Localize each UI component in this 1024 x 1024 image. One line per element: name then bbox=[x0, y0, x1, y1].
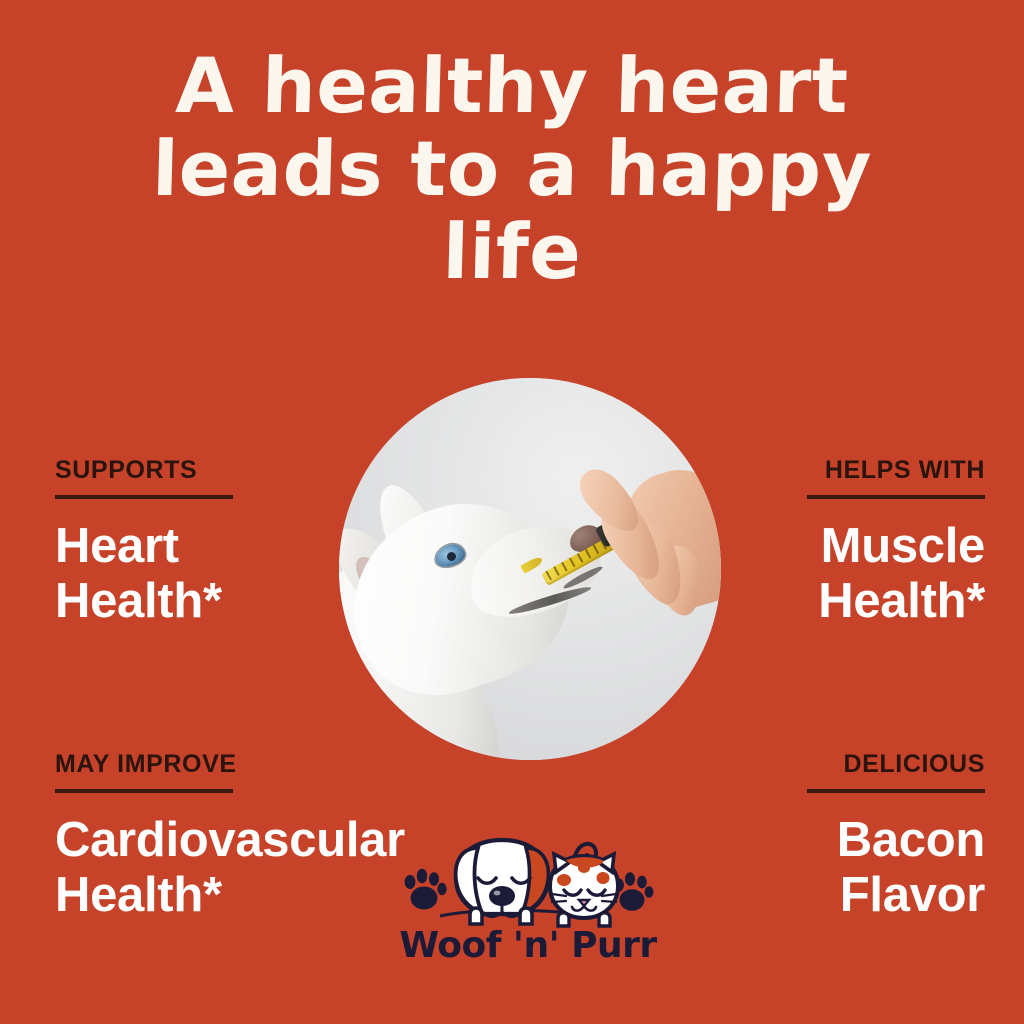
feature-delicious: DELICIOUS Bacon Flavor bbox=[807, 752, 985, 923]
feature-divider-may-improve bbox=[55, 789, 233, 793]
product-photo-circle bbox=[339, 378, 721, 760]
headline-line-1: A healthy heart bbox=[0, 44, 1024, 127]
paw-print-icon-left bbox=[405, 869, 447, 910]
feature-divider-helps-with bbox=[807, 495, 985, 499]
feature-may-improve: MAY IMPROVE Cardiovascular Health* bbox=[55, 752, 405, 923]
feature-title-supports-line-1: Heart bbox=[55, 519, 233, 574]
cat-face-icon bbox=[550, 844, 618, 926]
page-title: A healthy heart leads to a happy life bbox=[0, 44, 1024, 293]
feature-title-delicious-line-2: Flavor bbox=[807, 868, 985, 923]
brand-wordmark: Woof 'n' Purr bbox=[398, 926, 658, 966]
feature-title-supports: Heart Health* bbox=[55, 519, 233, 629]
feature-title-may-improve-line-2: Health* bbox=[55, 868, 405, 923]
feature-divider-delicious bbox=[807, 789, 985, 793]
feature-kicker-delicious: DELICIOUS bbox=[807, 752, 985, 777]
feature-title-supports-line-2: Health* bbox=[55, 574, 233, 629]
feature-title-delicious-line-1: Bacon bbox=[807, 813, 985, 868]
feature-title-helps-with-line-2: Health* bbox=[807, 574, 985, 629]
headline-line-3: life bbox=[0, 210, 1024, 293]
feature-title-delicious: Bacon Flavor bbox=[807, 813, 985, 923]
feature-kicker-supports: SUPPORTS bbox=[55, 458, 233, 483]
feature-title-may-improve-line-1: Cardiovascular bbox=[55, 813, 405, 868]
dog-pupil bbox=[447, 552, 456, 561]
feature-kicker-may-improve: MAY IMPROVE bbox=[55, 752, 405, 777]
feature-title-helps-with-line-1: Muscle bbox=[807, 519, 985, 574]
infographic-poster: A healthy heart leads to a happy life bbox=[0, 0, 1024, 1024]
feature-kicker-helps-with: HELPS WITH bbox=[807, 458, 985, 483]
feature-title-may-improve: Cardiovascular Health* bbox=[55, 813, 405, 923]
feature-title-helps-with: Muscle Health* bbox=[807, 519, 985, 629]
brand-logo: Woof 'n' Purr bbox=[398, 834, 658, 976]
feature-divider-supports bbox=[55, 495, 233, 499]
feature-supports: SUPPORTS Heart Health* bbox=[55, 458, 233, 629]
feature-helps-with: HELPS WITH Muscle Health* bbox=[807, 458, 985, 629]
photo-illustration bbox=[339, 378, 721, 760]
paw-print-icon-right bbox=[614, 872, 653, 911]
headline-line-2: leads to a happy bbox=[0, 127, 1024, 210]
